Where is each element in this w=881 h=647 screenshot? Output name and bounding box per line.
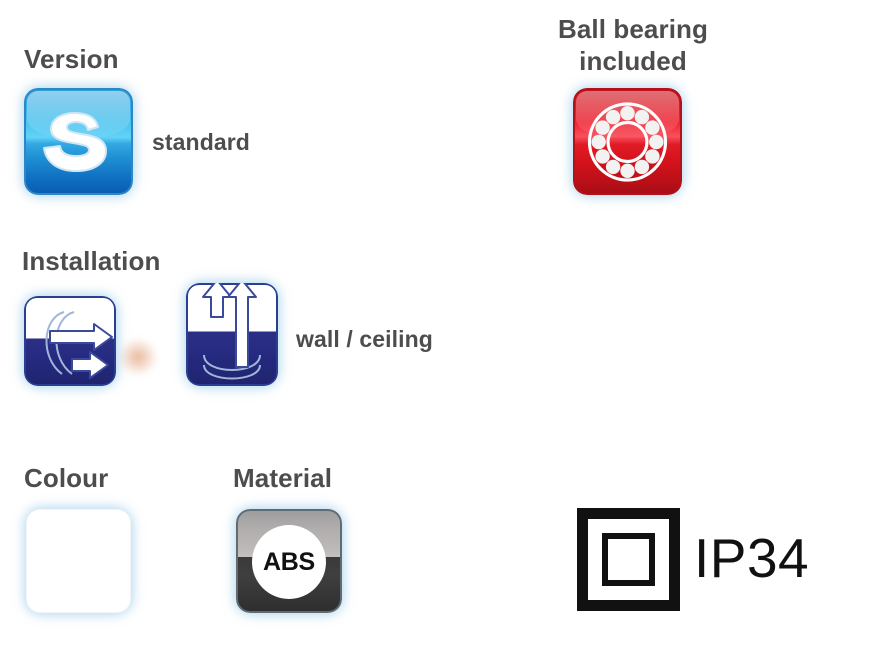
ball-bearing-icon (573, 88, 682, 195)
material-heading: Material (233, 462, 332, 494)
ball-bearing-heading-line1: Ball bearing (558, 14, 708, 44)
version-heading: Version (24, 43, 119, 75)
abs-circle: ABS (252, 525, 326, 599)
s-standard-icon (24, 88, 133, 195)
class-2-double-insulation-icon (577, 508, 680, 611)
colour-swatch-body (26, 509, 131, 613)
ip-rating-code: IP34 (694, 527, 809, 589)
colour-swatch-white (26, 509, 131, 613)
bearing-rings-graphic (573, 88, 682, 195)
ball-bearing-heading: Ball bearing included (533, 13, 733, 77)
installation-heading: Installation (22, 245, 160, 277)
feature-icon-sheet: Version standard Ball bearing included (0, 0, 881, 647)
abs-material-code: ABS (263, 548, 315, 577)
wall-mount-icon (24, 296, 116, 386)
ceiling-mount-icon (186, 283, 278, 386)
ball-bearing-heading-line2: included (579, 46, 687, 76)
ceiling-mount-arrows-graphic (186, 283, 278, 386)
colour-heading: Colour (24, 462, 108, 494)
double-insulation-inner-square (602, 533, 655, 586)
version-value-label: standard (152, 128, 250, 156)
wall-mount-arrows-graphic (24, 296, 116, 386)
installation-value-label: wall / ceiling (296, 325, 433, 353)
s-letter-glyph (24, 88, 133, 195)
wall-mount-warm-glow (110, 330, 166, 384)
abs-material-icon: ABS (236, 509, 342, 613)
